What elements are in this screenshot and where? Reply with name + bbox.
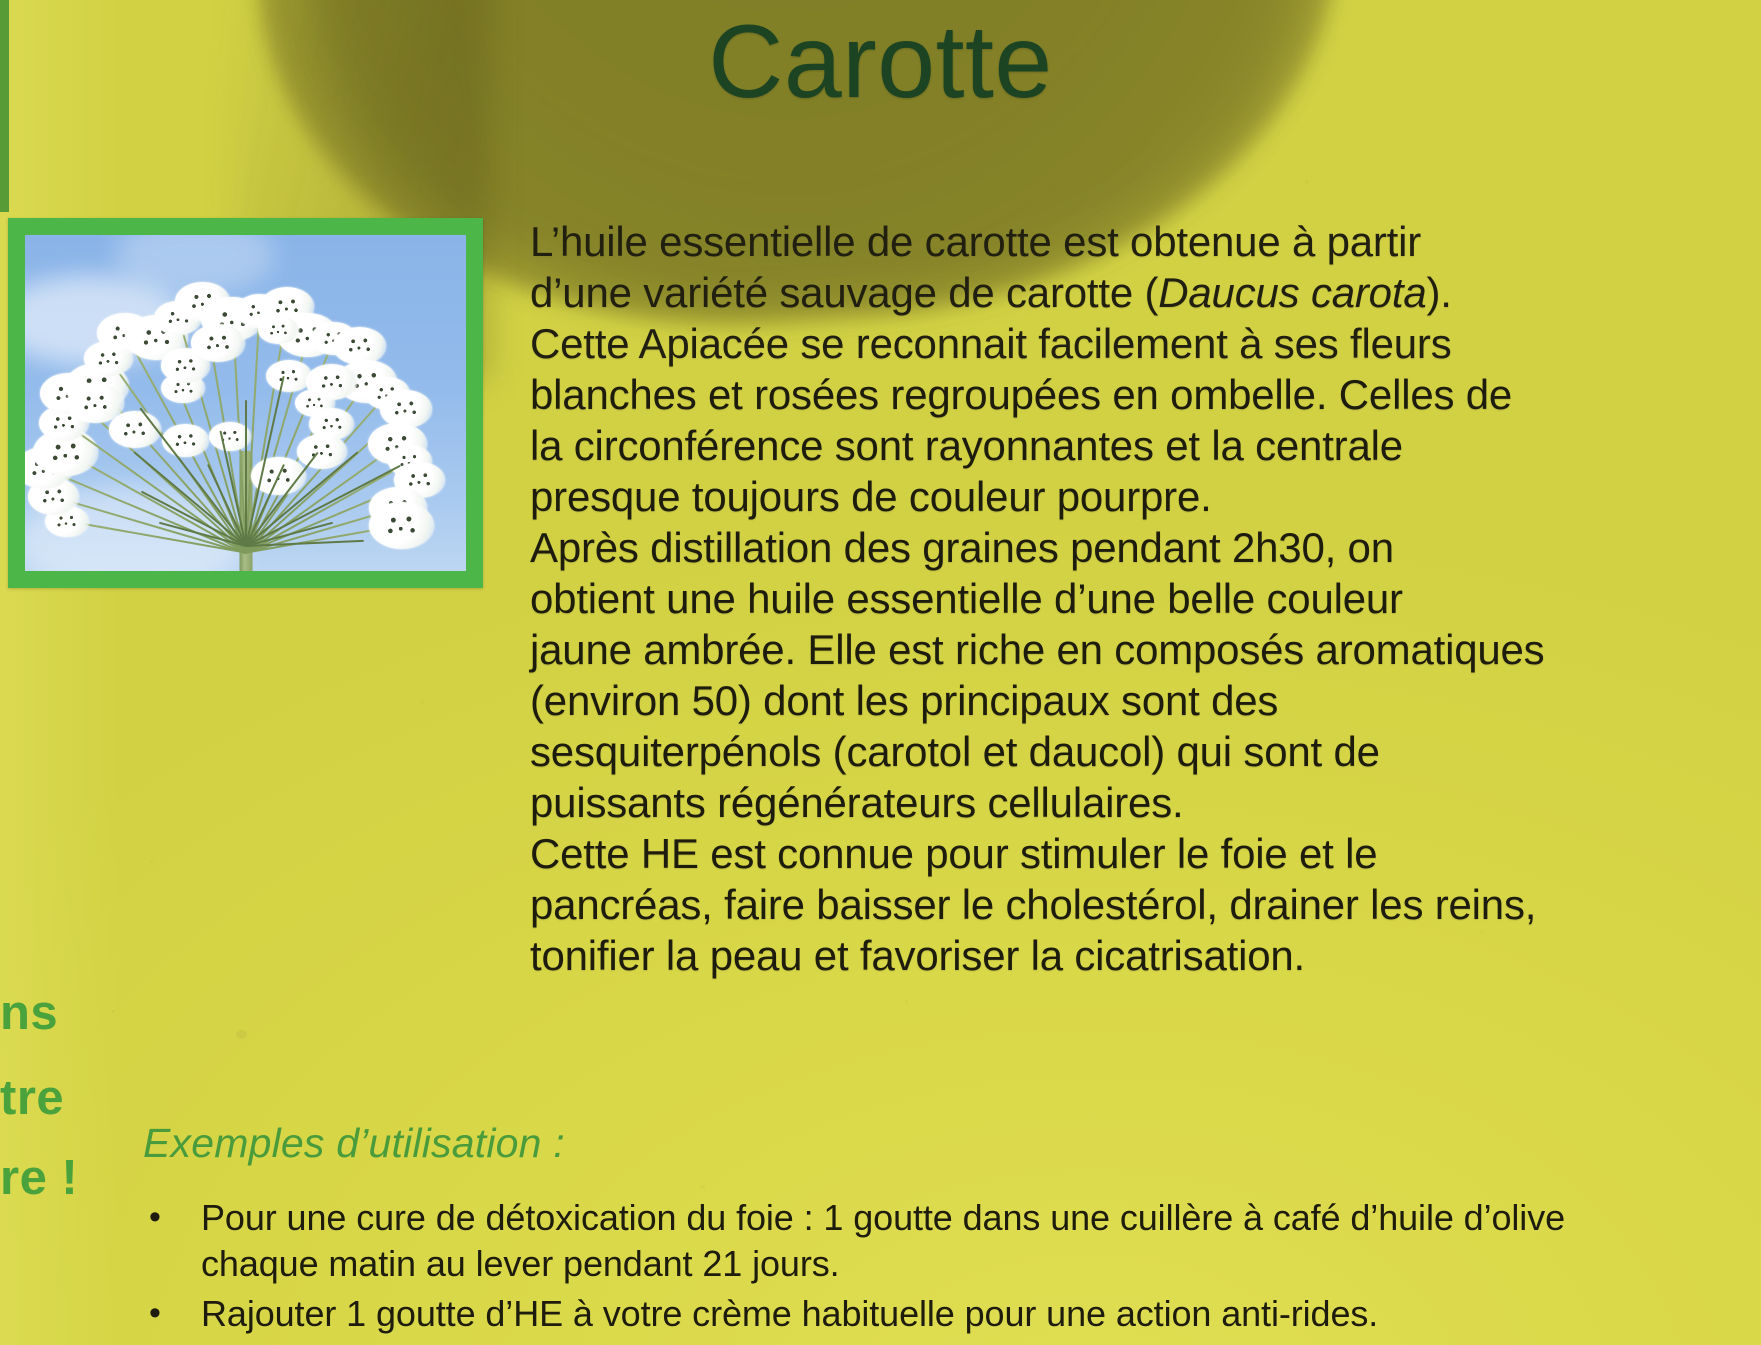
description-line: (environ 50) dont les principaux sont de…: [530, 675, 1560, 726]
description-line: Après distillation des graines pendant 2…: [530, 522, 1560, 573]
description-text: L’huile essentielle de carotte est obten…: [530, 216, 1560, 981]
floret: [266, 360, 312, 392]
floret: [380, 390, 432, 427]
floret: [297, 434, 347, 469]
description-line: puissants régénérateurs cellulaires.: [530, 777, 1560, 828]
usage-item-text: Pour une cure de détoxication du foie : …: [201, 1195, 1723, 1287]
floret: [67, 383, 124, 423]
description-line: la circonférence sont rayonnantes et la …: [530, 420, 1560, 471]
floret: [306, 364, 357, 400]
bract: [245, 400, 247, 546]
floret: [258, 316, 299, 345]
bullet-icon: •: [143, 1195, 201, 1239]
floret: [333, 327, 386, 365]
description-line: presque toujours de couleur pourpre.: [530, 471, 1560, 522]
edge-text-fragment-3: re !: [0, 1152, 78, 1204]
description-line: jaune ambrée. Elle est riche en composés…: [530, 624, 1560, 675]
plant-photo-frame: [8, 218, 483, 588]
usage-list-item: •Pour une cure de détoxication du foie :…: [143, 1195, 1723, 1287]
usage-heading: Exemples d’utilisation :: [143, 1120, 565, 1167]
usage-list: •Pour une cure de détoxication du foie :…: [143, 1195, 1723, 1341]
page-title: Carotte: [0, 8, 1761, 117]
usage-item-line: Rajouter 1 goutte d’HE à votre crème hab…: [201, 1291, 1723, 1337]
description-line: L’huile essentielle de carotte est obten…: [530, 216, 1560, 267]
usage-item-text: Rajouter 1 goutte d’HE à votre crème hab…: [201, 1291, 1723, 1337]
floret: [191, 324, 245, 362]
description-line: obtient une huile essentielle d’une bell…: [530, 573, 1560, 624]
usage-item-line: Pour une cure de détoxication du foie : …: [201, 1195, 1723, 1241]
bullet-icon: •: [143, 1291, 201, 1335]
usage-item-line: chaque matin au lever pendant 21 jours.: [201, 1241, 1723, 1287]
product-label-page: Carotte L’huile essentielle de carotte e…: [0, 0, 1761, 1345]
edge-text-fragment-2: tre: [0, 1072, 64, 1124]
edge-text-fragment-1: ns: [0, 987, 58, 1039]
description-line: d’une variété sauvage de carotte (Daucus…: [530, 267, 1560, 318]
description-line: pancréas, faire baisser le cholestérol, …: [530, 879, 1560, 930]
floret: [162, 424, 209, 457]
description-line: blanches et rosées regroupées en ombelle…: [530, 369, 1560, 420]
latin-binomial: Daucus carota: [1158, 269, 1426, 316]
description-line: tonifier la peau et favoriser la cicatri…: [530, 930, 1560, 981]
floret: [369, 502, 434, 549]
description-line: Cette Apiacée se reconnait facilement à …: [530, 318, 1560, 369]
usage-list-item: •Rajouter 1 goutte d’HE à votre crème ha…: [143, 1291, 1723, 1337]
description-line: sesquiterpénols (carotol et daucol) qui …: [530, 726, 1560, 777]
umbel-flower-head: [36, 253, 456, 553]
description-line: Cette HE est connue pour stimuler le foi…: [530, 828, 1560, 879]
plant-photo: [25, 235, 466, 571]
